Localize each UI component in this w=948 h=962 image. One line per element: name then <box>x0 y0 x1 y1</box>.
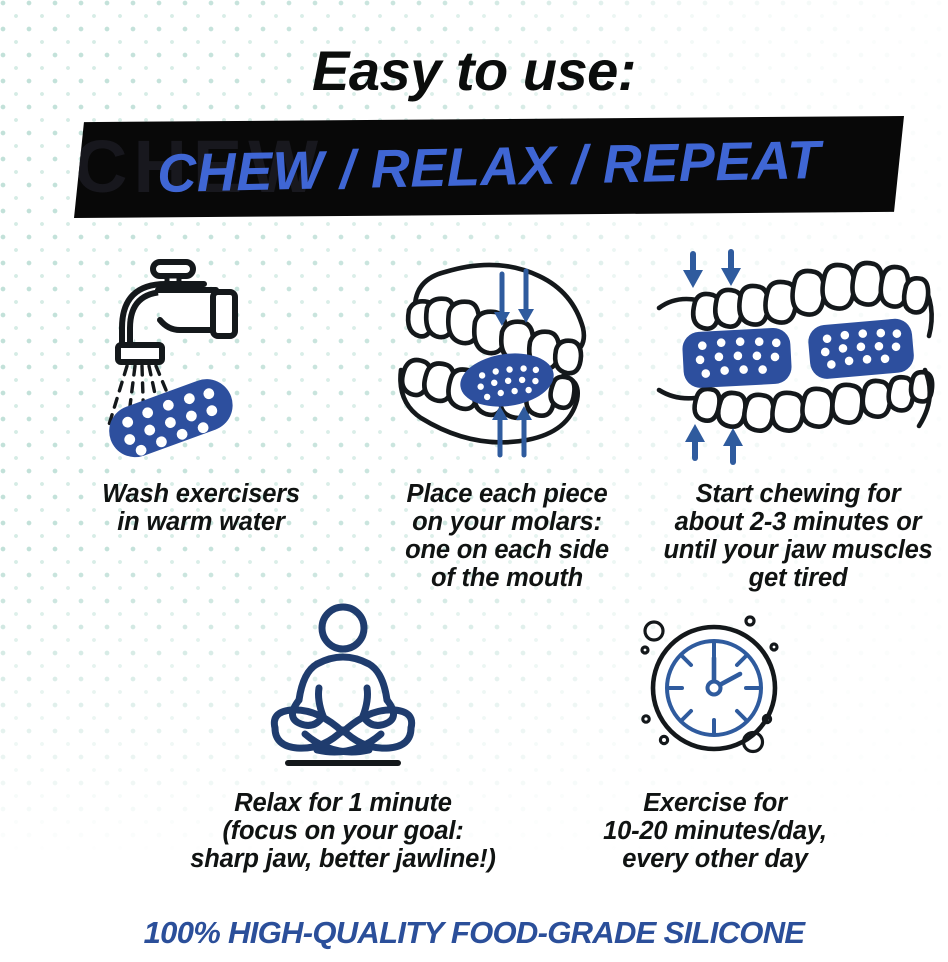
clock-icon <box>628 600 803 775</box>
faucet-washing-icon <box>86 250 316 462</box>
jaw-molars-placement-icon <box>387 250 627 462</box>
step-4-caption: Relax for 1 minute (focus on your goal: … <box>148 789 538 873</box>
teeth-chewing-icon <box>653 250 943 462</box>
banner-label: CHEW / RELAX / REPEAT <box>73 107 905 226</box>
step-1-wash: Wash exercisers in warm water <box>36 250 366 536</box>
page-title: Easy to use: <box>0 38 948 103</box>
step-5-caption: Exercise for 10-20 minutes/day, every ot… <box>540 789 890 873</box>
step-2-caption: Place each piece on your molars: one on … <box>362 480 652 592</box>
step-5-exercise: Exercise for 10-20 minutes/day, every ot… <box>540 600 890 873</box>
ground-line <box>285 760 401 766</box>
step-2-place: Place each piece on your molars: one on … <box>362 250 652 592</box>
footer-claim: 100% HIGH-QUALITY FOOD-GRADE SILICONE <box>0 915 948 951</box>
infographic-page: Easy to use: CHEW CHEW / RELAX / REPEAT <box>0 0 948 962</box>
banner: CHEW CHEW / RELAX / REPEAT <box>74 116 904 218</box>
step-4-relax: Relax for 1 minute (focus on your goal: … <box>148 600 538 873</box>
step-3-chew: Start chewing for about 2-3 minutes or u… <box>648 250 948 592</box>
step-3-caption: Start chewing for about 2-3 minutes or u… <box>648 480 948 592</box>
meditating-person-icon <box>243 600 443 775</box>
step-1-caption: Wash exercisers in warm water <box>36 480 366 536</box>
